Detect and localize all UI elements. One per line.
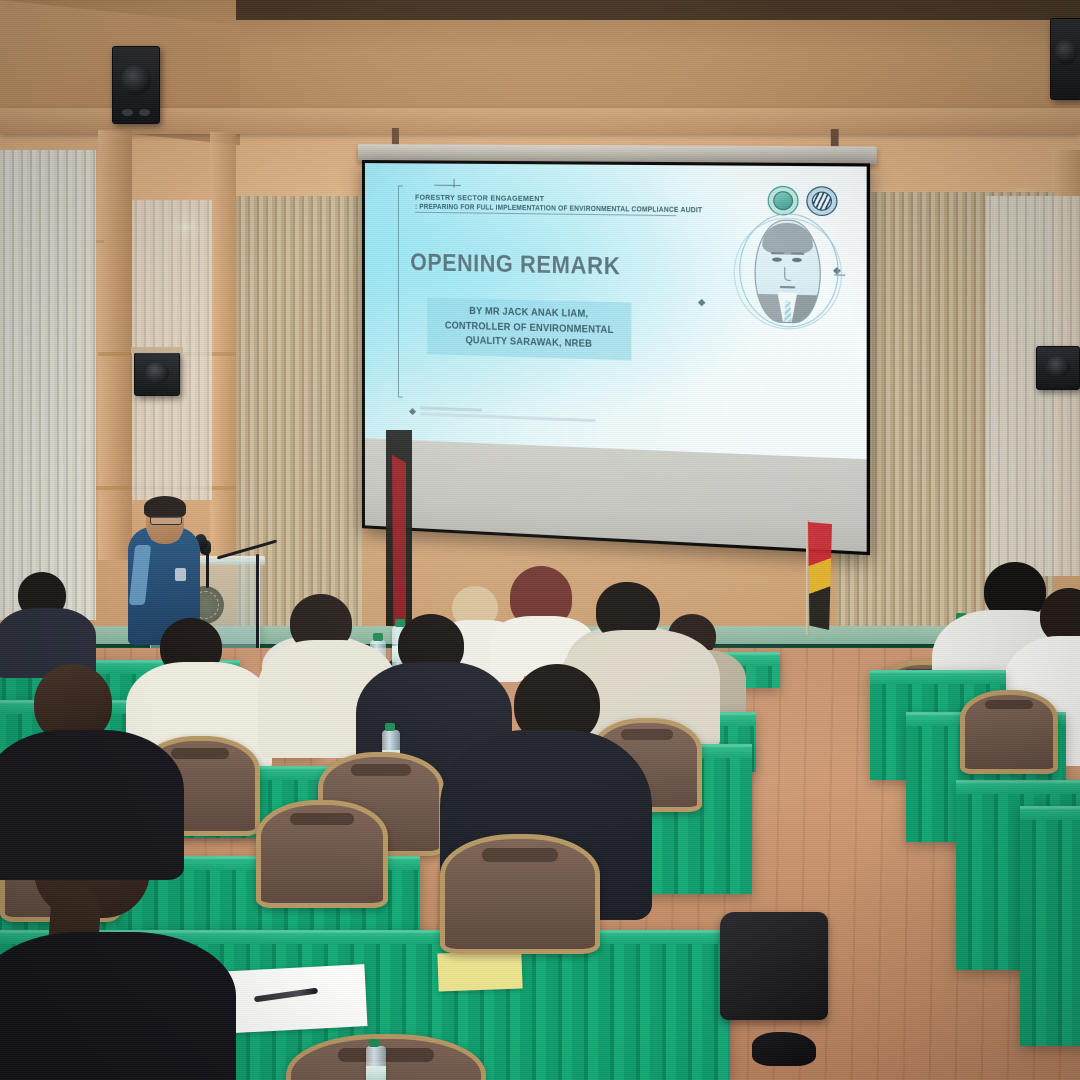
- table-right-d: [1020, 806, 1080, 1046]
- backdrop-drape-red: [392, 455, 406, 645]
- microphone-stand: [256, 554, 259, 654]
- nreb-logo-icon: [768, 186, 799, 216]
- wall-pilaster: [98, 130, 132, 560]
- note-paper: [214, 964, 367, 1034]
- microphone-stem: [206, 552, 209, 588]
- screen-blank-area: [365, 438, 867, 551]
- presenter-badge: [175, 568, 186, 581]
- slide-title: OPENING REMARK: [383, 249, 650, 283]
- banquet-chair: [960, 690, 1058, 774]
- mineral-water-bottle: [366, 1046, 386, 1080]
- presenter-hair: [144, 496, 186, 518]
- projection-screen: FORESTRY SECTOR ENGAGEMENT : PREPARING F…: [358, 128, 877, 561]
- backpack: [720, 912, 828, 1020]
- shoe: [752, 1032, 816, 1066]
- banquet-chair: [440, 834, 600, 954]
- wall-loudspeaker: [1036, 346, 1080, 390]
- slide-frame-decoration: [398, 185, 403, 397]
- wall-loudspeaker: [1050, 18, 1080, 100]
- banquet-chair: [256, 800, 388, 908]
- speaker-portrait-illustration: [746, 215, 830, 327]
- slide-logos: [768, 186, 838, 216]
- window-curtain-left: [0, 150, 96, 620]
- slide-tick: [453, 179, 454, 188]
- banquet-chair: [286, 1034, 486, 1080]
- slide-subtitle-box: BY MR JACK ANAK LIAM, CONTROLLER OF ENVI…: [427, 298, 632, 360]
- conference-hall-photo: FORESTRY SECTOR ENGAGEMENT : PREPARING F…: [0, 0, 1080, 1080]
- yellow-note: [437, 951, 522, 992]
- ceiling-shadow-band: [236, 0, 1080, 20]
- wall-loudspeaker: [112, 46, 160, 124]
- wall-loudspeaker: [134, 352, 180, 396]
- agency-logo-icon: [806, 186, 837, 216]
- presenter-glasses: [150, 516, 182, 525]
- projected-slide: FORESTRY SECTOR ENGAGEMENT : PREPARING F…: [365, 163, 867, 459]
- wall-pilaster: [210, 132, 236, 562]
- sarawak-flag: [808, 522, 832, 630]
